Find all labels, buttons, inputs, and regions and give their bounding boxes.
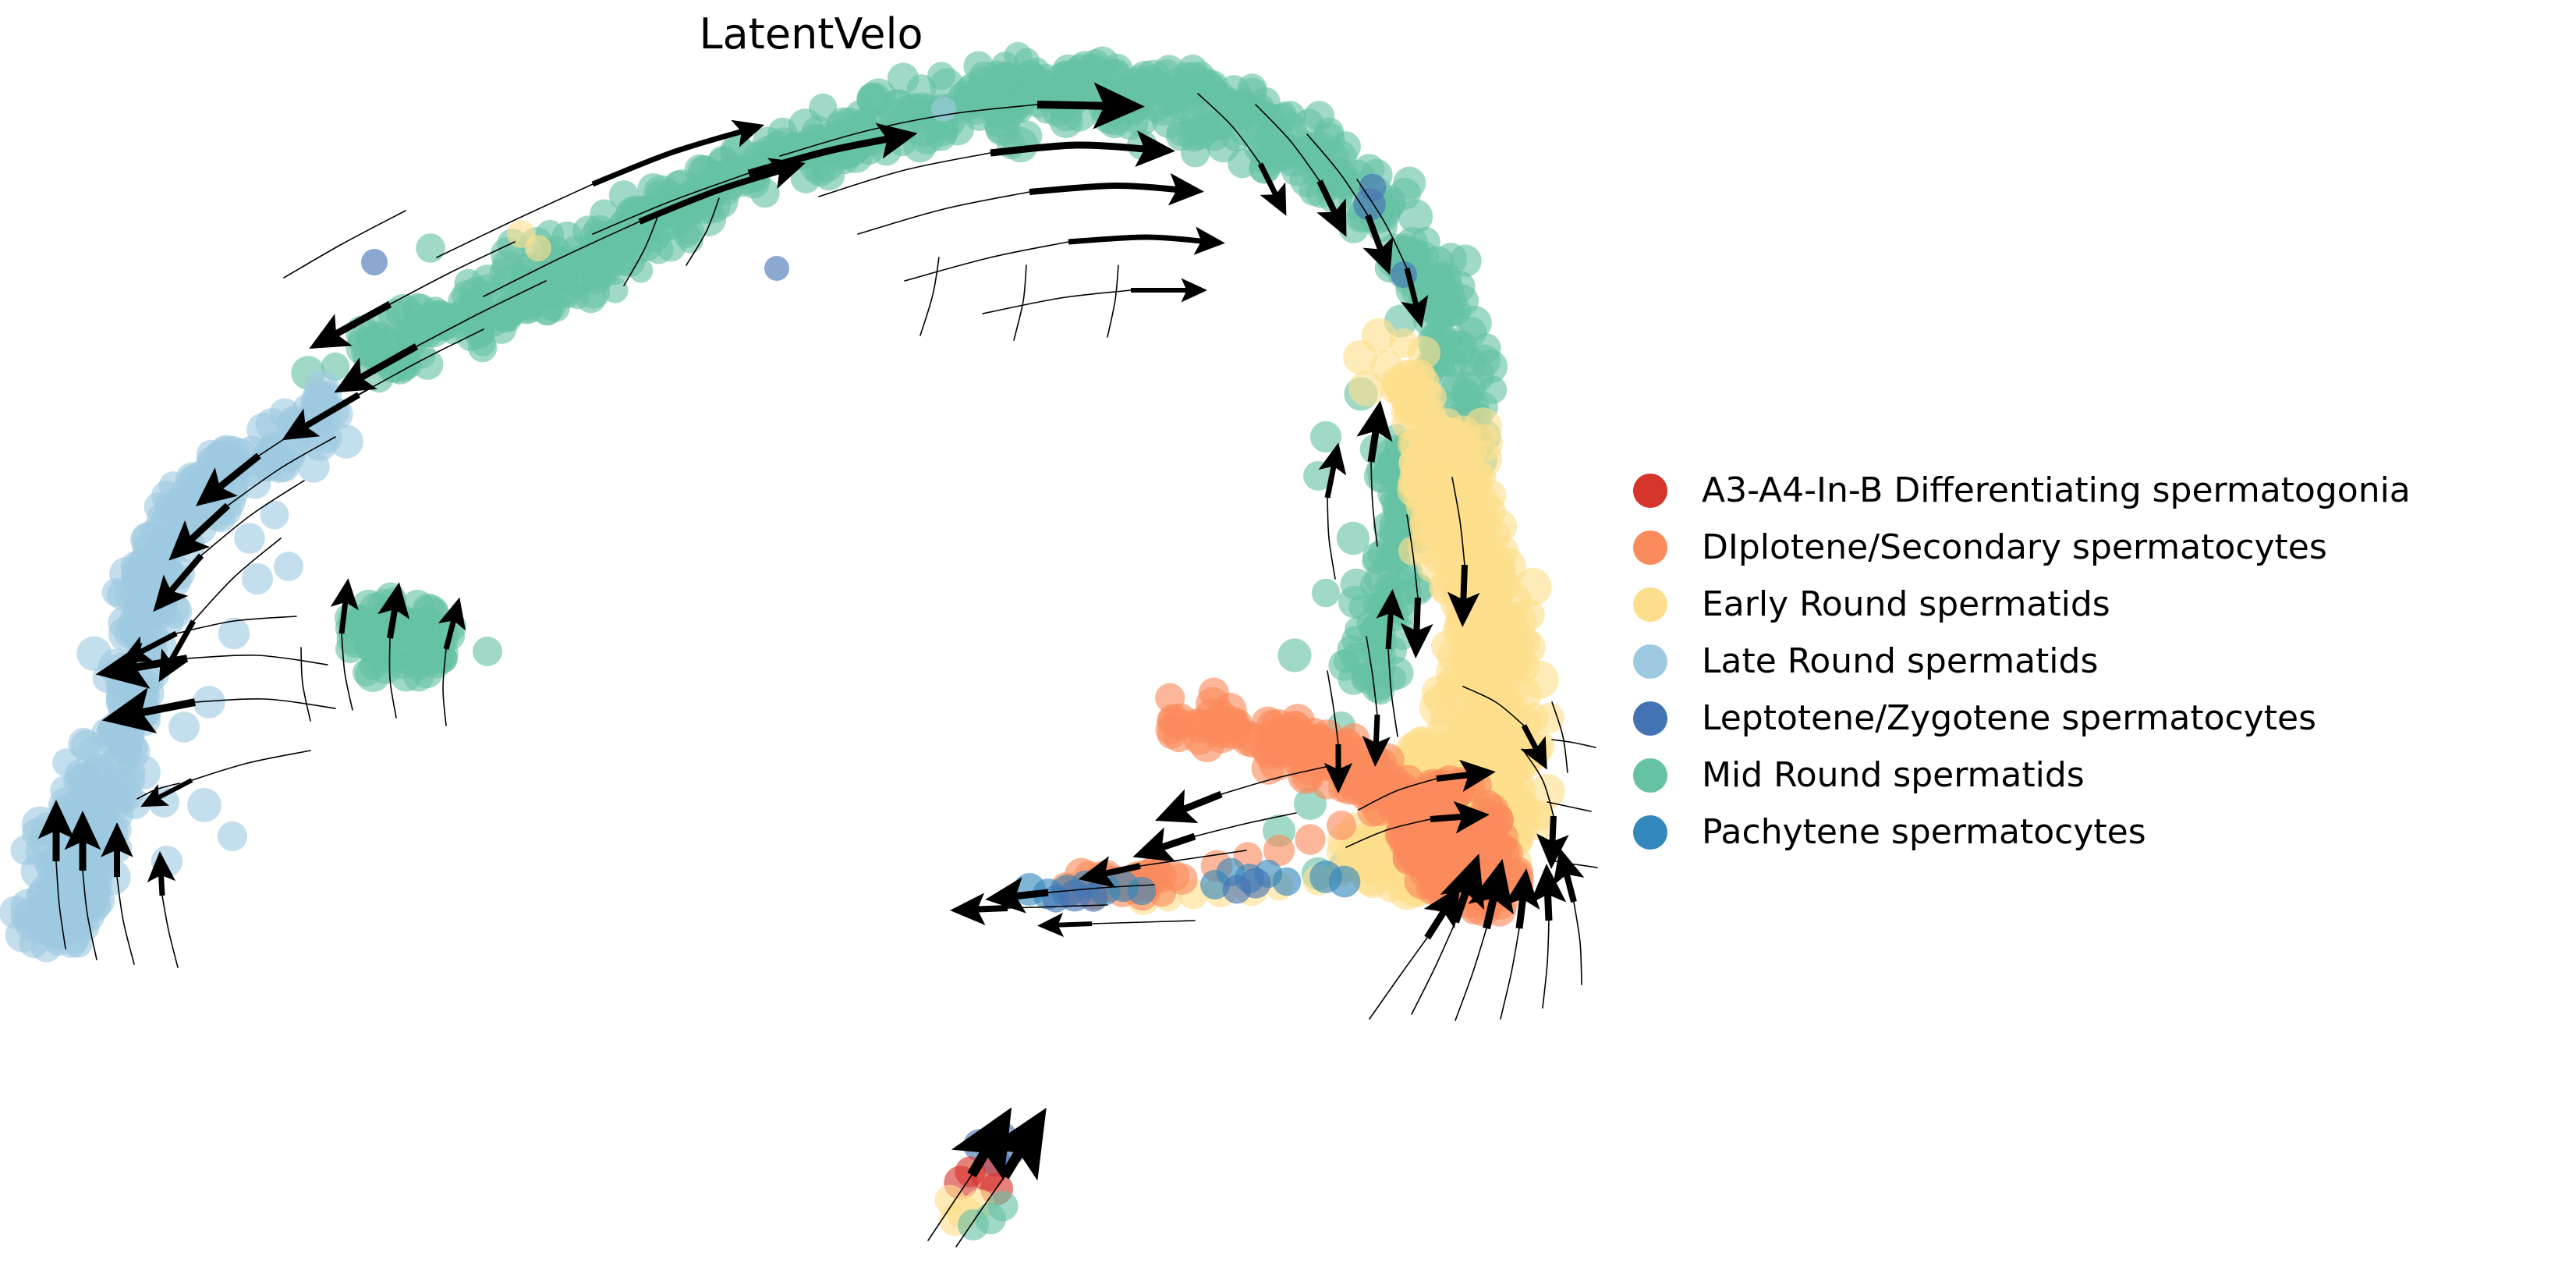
scatter-point <box>126 755 161 790</box>
legend-swatch-yellow <box>1633 587 1667 622</box>
legend-swatch-blue <box>1633 815 1667 850</box>
scatter-point <box>1408 336 1440 369</box>
scatter-point <box>1013 873 1046 906</box>
scatter-point <box>1426 261 1462 297</box>
scatter-point <box>1391 236 1419 264</box>
streamline-arrow <box>1327 459 1335 498</box>
streamline-arrow <box>1175 794 1221 813</box>
streamline-arrow <box>1519 889 1524 928</box>
streamline-tail <box>858 192 1029 234</box>
scatter-point <box>87 843 119 875</box>
scatter-point <box>218 822 247 851</box>
scatter-point <box>97 715 131 750</box>
scatter-point <box>990 62 1018 90</box>
legend-item-label: DIplotene/Secondary spermatocytes <box>1702 527 2327 567</box>
scatter-point <box>47 836 77 866</box>
scatter-point <box>1015 48 1040 73</box>
scatter-point <box>1471 333 1501 364</box>
legend-item[interactable]: Pachytene spermatocytes <box>1627 804 2563 861</box>
streamline-tail <box>1555 861 1597 868</box>
scatter-point <box>182 493 211 522</box>
scatter-point <box>1202 80 1230 108</box>
legend: A3-A4-In-B Differentiating spermatogonia… <box>1627 462 2563 861</box>
streamline-tail <box>1107 265 1118 337</box>
scatter-point <box>1467 625 1499 657</box>
scatter-point <box>101 798 133 831</box>
streamline-tail <box>905 242 1068 281</box>
scatter-point <box>550 262 579 291</box>
legend-item[interactable]: Early Round spermatids <box>1627 576 2563 633</box>
scatter-point <box>1442 449 1472 480</box>
streamline-tail <box>920 257 939 335</box>
streamline-arrow <box>1068 237 1209 242</box>
streamline-arrow <box>1564 866 1574 902</box>
scatter-point <box>151 846 182 877</box>
streamline-arrow <box>1051 924 1092 925</box>
streamline-tail <box>1552 740 1596 747</box>
streamline-arrow <box>1037 105 1115 106</box>
streamline-tail <box>192 751 310 780</box>
scatter-point <box>1329 866 1361 898</box>
scatter-point <box>1381 666 1406 691</box>
scatter-point <box>1479 667 1512 700</box>
legend-swatch-orange <box>1633 531 1667 565</box>
streamline-tail <box>301 648 310 721</box>
scatter-point <box>1249 133 1283 167</box>
scatter-point <box>1327 811 1356 840</box>
scatter-point <box>1343 340 1377 374</box>
scatter-point <box>234 523 265 554</box>
streamline-tail <box>1327 498 1335 579</box>
scatter-point <box>1079 882 1107 911</box>
streamline-tail <box>1574 902 1582 985</box>
scatter-point <box>525 235 551 261</box>
legend-item[interactable]: Leptotene/Zygotene spermatocytes <box>1627 690 2563 747</box>
legend-swatch-light_blue <box>1633 644 1667 679</box>
scatter-point <box>1284 744 1318 779</box>
scatter-point <box>168 712 200 743</box>
scatter-point <box>1357 796 1388 827</box>
legend-item[interactable]: DIplotene/Secondary spermatocytes <box>1627 519 2563 576</box>
streamline-arrow <box>1376 715 1377 751</box>
scatter-point <box>1398 199 1433 234</box>
streamline-tail <box>1501 928 1519 1019</box>
scatter-point <box>335 603 364 633</box>
scatter-point <box>958 1209 989 1240</box>
streamline-tail <box>1014 265 1026 340</box>
streamline-arrow <box>1547 885 1549 921</box>
streamline-arrow <box>1463 565 1465 609</box>
scatter-point <box>416 233 445 263</box>
scatter-point <box>1359 630 1384 655</box>
scatter-point <box>1455 526 1489 560</box>
scatter-point <box>1328 774 1356 802</box>
scatter-point <box>129 547 158 577</box>
scatter-point <box>260 501 289 530</box>
scatter-point <box>1404 394 1436 426</box>
legend-item-label: Leptotene/Zygotene spermatocytes <box>1702 698 2316 738</box>
scatter-point <box>1295 824 1325 854</box>
scatter-point <box>1437 299 1465 327</box>
scatter-point <box>764 256 789 281</box>
streamline-tail <box>1369 938 1427 1019</box>
scatter-point <box>1051 67 1081 97</box>
scatter-point <box>1123 69 1151 97</box>
streamline-arrow <box>1388 605 1391 649</box>
streamline-arrow <box>161 868 162 896</box>
scatter-point <box>1312 579 1340 607</box>
scatter-point <box>1128 877 1157 906</box>
scatter-point <box>657 232 686 262</box>
streamline-tail <box>1455 928 1486 1020</box>
scatter-point <box>256 408 288 440</box>
streamline-tail <box>983 290 1131 314</box>
scatter-point <box>144 594 176 626</box>
scatter-point <box>1458 819 1495 857</box>
scatter-point <box>490 304 519 333</box>
streamline-tail <box>1412 922 1455 1014</box>
scatter-point <box>1337 522 1369 555</box>
scatter-point <box>1164 703 1197 736</box>
scatter-point <box>1483 509 1517 543</box>
legend-item[interactable]: A3-A4-In-B Differentiating spermatogonia <box>1627 462 2563 519</box>
scatter-point <box>48 787 85 824</box>
legend-item-label: Late Round spermatids <box>1702 641 2098 681</box>
scatter-point <box>274 552 303 581</box>
scatter-point <box>931 97 956 122</box>
legend-swatch-red <box>1633 474 1667 508</box>
legend-swatch-green <box>1633 758 1667 793</box>
scatter-point <box>0 896 33 929</box>
scatter-points-layer <box>0 42 1565 1240</box>
scatter-point <box>1208 701 1236 729</box>
scatter-point <box>186 460 216 491</box>
scatter-point <box>1314 118 1344 147</box>
scatter-point <box>1310 421 1341 452</box>
scatter-point <box>1277 638 1311 672</box>
streamline-arrow <box>1430 816 1471 819</box>
scatter-point <box>187 788 221 822</box>
scatter-point <box>988 1191 1019 1222</box>
scatter-point <box>1042 885 1069 912</box>
scatter-point <box>41 915 74 948</box>
streamline-arrow <box>1416 598 1418 640</box>
scatter-point <box>1348 371 1384 406</box>
scatter-point <box>598 256 623 281</box>
scatter-point <box>1182 114 1217 150</box>
scatter-point <box>1223 875 1252 904</box>
scatter-point <box>22 818 51 848</box>
streamline-tail <box>187 655 328 665</box>
scatter-point <box>473 637 502 666</box>
legend-item[interactable]: Mid Round spermatids <box>1627 747 2563 804</box>
scatter-point <box>361 249 388 275</box>
scatter-point <box>926 119 958 151</box>
scatter-point <box>242 563 273 594</box>
scatter-point <box>329 424 363 459</box>
streamline-arrow <box>1153 836 1195 850</box>
legend-item[interactable]: Late Round spermatids <box>1627 633 2563 690</box>
streamline-arrow <box>1029 186 1185 192</box>
figure-container: LatentVelo A3-A4-In-B Differentiating sp… <box>0 0 2576 1274</box>
scatter-point <box>1325 735 1359 768</box>
streamline-tail <box>1092 921 1195 924</box>
legend-item-label: A3-A4-In-B Differentiating spermatogonia <box>1702 470 2411 510</box>
scatter-point <box>1271 101 1296 126</box>
streamline-tail <box>162 896 178 967</box>
scatter-point <box>1238 725 1267 754</box>
scatter-point <box>1167 75 1199 108</box>
legend-item-label: Mid Round spermatids <box>1702 755 2085 795</box>
scatter-point <box>861 78 895 112</box>
scatter-point <box>413 609 444 639</box>
streamline-tail <box>1543 921 1549 1008</box>
legend-item-label: Early Round spermatids <box>1702 584 2110 624</box>
scatter-point <box>1225 98 1257 130</box>
legend-item-label: Pachytene spermatocytes <box>1702 812 2146 852</box>
streamline-arrow <box>969 908 1008 910</box>
streamline-arrow <box>1552 816 1554 850</box>
legend-swatch-dark_blue <box>1633 701 1667 736</box>
scatter-point <box>1398 536 1428 566</box>
streamline-arrow <box>1006 893 1048 897</box>
scatter-point <box>353 658 381 687</box>
streamline-tail <box>284 211 406 278</box>
scatter-point <box>1273 868 1302 896</box>
scatter-point <box>1086 47 1119 80</box>
